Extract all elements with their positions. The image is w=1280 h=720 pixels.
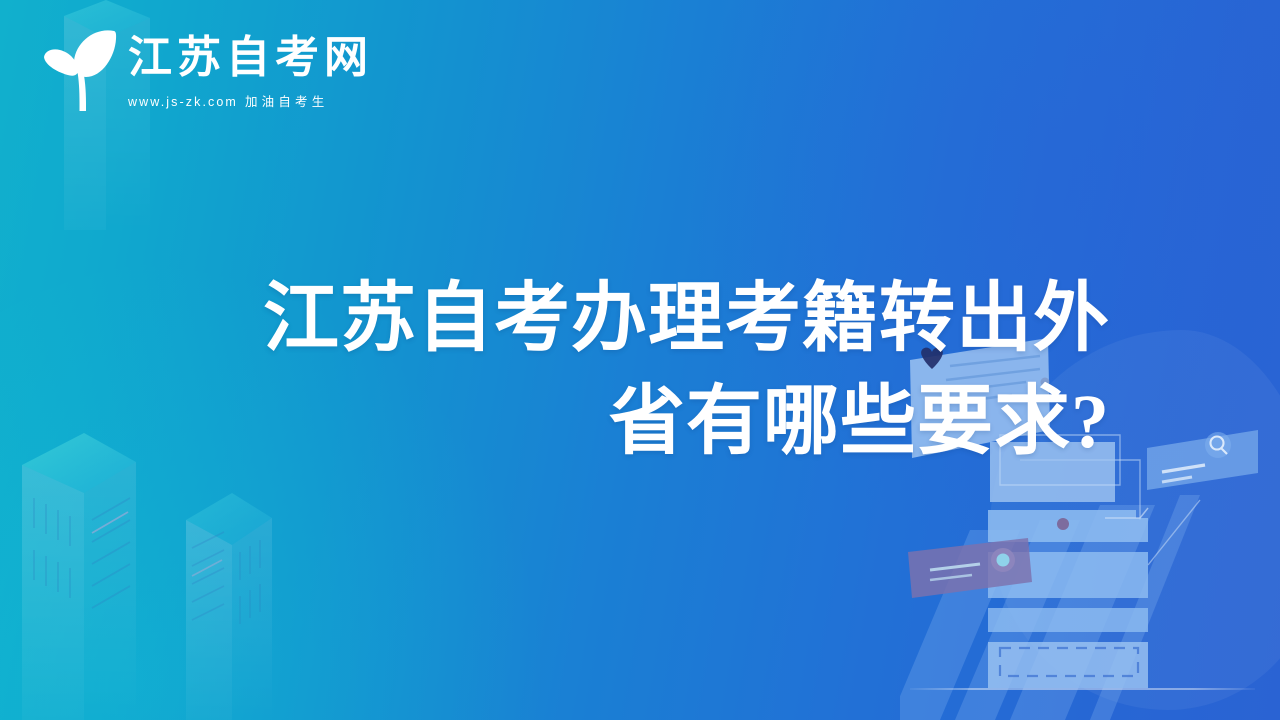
website-url: www.js-zk.com xyxy=(128,95,238,109)
sprout-leaf-icon xyxy=(36,17,122,125)
poster-canvas: 江苏自考网 www.js-zk.com加油自考生 江苏自考办理考籍转出外 省有哪… xyxy=(0,0,1280,720)
logo-tagline: www.js-zk.com加油自考生 xyxy=(128,91,373,110)
ground-line xyxy=(910,688,1255,690)
page-title: 江苏自考办理考籍转出外 省有哪些要求? xyxy=(150,268,1110,475)
slogan-text: 加油自考生 xyxy=(245,95,329,109)
site-logo[interactable]: 江苏自考网 www.js-zk.com加油自考生 xyxy=(36,16,373,126)
page-title-line-2: 省有哪些要求? xyxy=(150,371,1110,474)
page-title-line-1: 江苏自考办理考籍转出外 xyxy=(150,268,1110,371)
brand-name: 江苏自考网 xyxy=(128,36,373,80)
logo-text-block: 江苏自考网 www.js-zk.com加油自考生 xyxy=(128,32,373,110)
